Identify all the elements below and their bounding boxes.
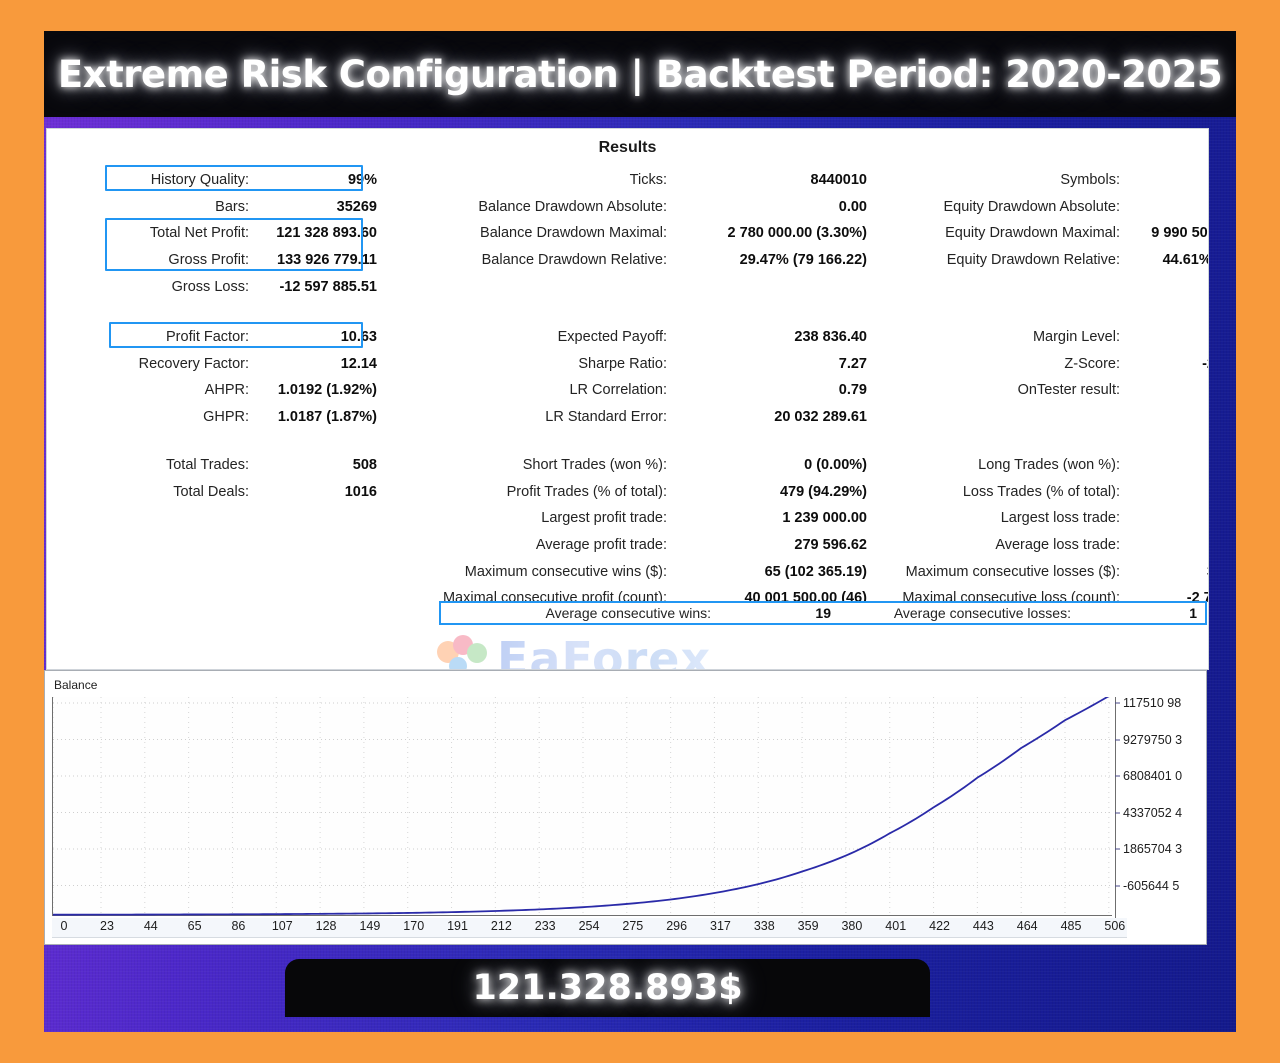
- x-axis-tick-label: 65: [188, 919, 202, 933]
- stat-label: Bars:: [79, 199, 249, 215]
- stat-value: 29.47% (79 166.22): [667, 252, 867, 268]
- x-axis-tick-label: 380: [841, 919, 862, 933]
- x-axis-tick-label: 359: [798, 919, 819, 933]
- stat-label: Gross Loss:: [79, 279, 249, 295]
- stat-value: 29 (5.71%): [1120, 484, 1209, 500]
- stat-label: Total Trades:: [79, 457, 249, 473]
- stats-block-trades: Total Trades:508 Short Trades (won %):0 …: [47, 452, 1209, 612]
- x-axis-tick-label: 296: [666, 919, 687, 933]
- stat-value: -12 597 885.51: [249, 279, 377, 295]
- x-axis-tick-label: 86: [231, 919, 245, 933]
- stat-value: 84.46%: [1120, 329, 1209, 345]
- stat-label: Sharpe Ratio:: [397, 356, 667, 372]
- x-axis-tick-label: 254: [579, 919, 600, 933]
- stat-label: Recovery Factor:: [79, 356, 249, 372]
- stat-value: 0: [1120, 382, 1209, 398]
- table-row: Total Trades:508 Short Trades (won %):0 …: [47, 452, 1209, 479]
- stat-label: Profit Trades (% of total):: [397, 484, 667, 500]
- stat-label: Expected Payoff:: [397, 329, 667, 345]
- x-axis-tick-label: 149: [359, 919, 380, 933]
- watermark-logo-icon: [437, 635, 489, 670]
- stat-value: 1 239 000.00: [667, 510, 867, 526]
- stat-label: Ticks:: [397, 172, 667, 188]
- stat-label: Z-Score:: [885, 356, 1120, 372]
- balance-chart-card: Balance 117510 989279750 36808401 043370…: [44, 670, 1207, 945]
- stat-value: 8440010: [667, 172, 867, 188]
- x-axis-tick-label: 191: [447, 919, 468, 933]
- stat-label: Long Trades (won %):: [885, 457, 1120, 473]
- average-consecutive-row: Average consecutive wins: 19 Average con…: [439, 601, 1207, 625]
- x-axis-tick-label: 401: [885, 919, 906, 933]
- stat-label: Margin Level:: [885, 329, 1120, 345]
- table-row: GHPR:1.0187 (1.87%) LR Standard Error:20…: [47, 404, 1209, 431]
- stat-label: Equity Drawdown Maximal:: [885, 225, 1120, 241]
- stat-label: Average consecutive losses:: [841, 605, 1071, 621]
- stat-label: Maximum consecutive wins ($):: [397, 564, 667, 580]
- stat-value: 0 (0.00%): [667, 457, 867, 473]
- stat-label: Balance Drawdown Maximal:: [397, 225, 667, 241]
- stat-label: Maximum consecutive losses ($):: [885, 564, 1120, 580]
- stat-label: LR Correlation:: [397, 382, 667, 398]
- stat-value: 1016: [249, 484, 377, 500]
- stat-label: Equity Drawdown Relative:: [885, 252, 1120, 268]
- stat-label: Total Net Profit:: [79, 225, 249, 241]
- stat-label: Equity Drawdown Absolute:: [885, 199, 1120, 215]
- stat-label: Largest loss trade:: [885, 510, 1120, 526]
- stat-value: -2.57 (98.98%): [1120, 356, 1209, 372]
- stat-label: Gross Profit:: [79, 252, 249, 268]
- table-row: AHPR:1.0192 (1.92%) LR Correlation:0.79 …: [47, 377, 1209, 404]
- stat-label: Largest profit trade:: [397, 510, 667, 526]
- stat-label: Short Trades (won %):: [397, 457, 667, 473]
- stat-value: 1.0192 (1.92%): [249, 382, 377, 398]
- table-row: History Quality:99% Ticks:8440010 Symbol…: [47, 167, 1209, 194]
- title-bar: Extreme Risk Configuration | Backtest Pe…: [44, 31, 1236, 117]
- stat-label: Balance Drawdown Relative:: [397, 252, 667, 268]
- stat-value: 12.14: [249, 356, 377, 372]
- stat-value: 9 990 500.00 (11.77%): [1120, 225, 1209, 241]
- x-axis-tick-label: 212: [491, 919, 512, 933]
- backtest-report-card: Results EaForex History Quality:99% Tick…: [46, 128, 1209, 670]
- page-title: Extreme Risk Configuration | Backtest Pe…: [58, 53, 1222, 96]
- x-axis-tick-label: 170: [403, 919, 424, 933]
- stat-value: 279 596.62: [667, 537, 867, 553]
- stat-value: 65 (102 365.19): [667, 564, 867, 580]
- stat-label: Profit Factor:: [79, 329, 249, 345]
- table-row: Gross Loss:-12 597 885.51: [47, 273, 1209, 300]
- x-axis-tick-label: 464: [1017, 919, 1038, 933]
- x-axis-tick-label: 128: [316, 919, 337, 933]
- chart-y-axis: 117510 989279750 36808401 04337052 41865…: [1115, 697, 1207, 919]
- x-axis-tick-label: 233: [535, 919, 556, 933]
- x-axis-tick-label: 443: [973, 919, 994, 933]
- stat-value: 35269: [249, 199, 377, 215]
- stat-value: 133 926 779.11: [249, 252, 377, 268]
- stat-label: Symbols:: [885, 172, 1120, 188]
- stat-label: History Quality:: [79, 172, 249, 188]
- x-axis-tick-label: 485: [1061, 919, 1082, 933]
- x-axis-tick-label: 338: [754, 919, 775, 933]
- chart-title: Balance: [54, 678, 97, 692]
- stat-value: 1.0187 (1.87%): [249, 409, 377, 425]
- stat-value: 1: [1120, 172, 1209, 188]
- stat-value: 121 328 893.60: [249, 225, 377, 241]
- stat-value: 20 032 289.61: [667, 409, 867, 425]
- stat-value: 0.00: [667, 199, 867, 215]
- x-axis-tick-label: 506: [1104, 919, 1125, 933]
- stat-value: 99%: [249, 172, 377, 188]
- x-axis-tick-label: 0: [61, 919, 68, 933]
- y-axis-tick-label: 9279750 3: [1123, 733, 1182, 747]
- x-axis-tick-label: 23: [100, 919, 114, 933]
- x-axis-tick-label: 275: [622, 919, 643, 933]
- screenshot-panel: Extreme Risk Configuration | Backtest Pe…: [44, 31, 1236, 1032]
- x-axis-tick-label: 107: [272, 919, 293, 933]
- stat-value: 508: [249, 457, 377, 473]
- orange-frame: Extreme Risk Configuration | Backtest Pe…: [0, 0, 1280, 1063]
- stat-label: Total Deals:: [79, 484, 249, 500]
- stats-block-overview: History Quality:99% Ticks:8440010 Symbol…: [47, 167, 1209, 300]
- stat-value: 19: [711, 605, 831, 621]
- table-row: Maximum consecutive wins ($):65 (102 365…: [47, 558, 1209, 585]
- stat-label: Average loss trade:: [885, 537, 1120, 553]
- stat-label: Average profit trade:: [397, 537, 667, 553]
- stat-value: 3 (-79 166.22): [1120, 564, 1209, 580]
- stat-label: Loss Trades (% of total):: [885, 484, 1120, 500]
- total-profit-banner: 121.328.893$: [285, 959, 930, 1017]
- results-heading: Results: [47, 129, 1208, 157]
- x-axis-tick-label: 422: [929, 919, 950, 933]
- chart-plot-area: [52, 697, 1112, 916]
- stat-value: 1: [1071, 605, 1197, 621]
- total-profit-value: 121.328.893$: [472, 968, 742, 1008]
- watermark-text: EaForex: [497, 632, 711, 670]
- stat-label: Average consecutive wins:: [441, 605, 711, 621]
- stat-value: 44.61% (123 978.42): [1120, 252, 1209, 268]
- stat-value: 272.44: [1120, 199, 1209, 215]
- table-row: Largest profit trade:1 239 000.00 Larges…: [47, 505, 1209, 532]
- table-row: Profit Factor:10.63 Expected Payoff:238 …: [47, 324, 1209, 351]
- chart-gridlines: [53, 697, 1113, 916]
- stats-block-ratios: Profit Factor:10.63 Expected Payoff:238 …: [47, 324, 1209, 430]
- stat-label: GHPR:: [79, 409, 249, 425]
- stat-value: 508 (94.29%): [1120, 457, 1209, 473]
- y-axis-tick-label: 117510 98: [1123, 696, 1181, 710]
- chart-x-axis: 0234465861071281491701912122332542752963…: [52, 918, 1127, 938]
- table-row: Recovery Factor:12.14 Sharpe Ratio:7.27 …: [47, 351, 1209, 378]
- table-row: Bars:35269 Balance Drawdown Absolute:0.0…: [47, 194, 1209, 221]
- stat-label: OnTester result:: [885, 382, 1120, 398]
- stat-value: -2 780 000.00: [1120, 510, 1209, 526]
- stat-label: Balance Drawdown Absolute:: [397, 199, 667, 215]
- table-row: Total Deals:1016 Profit Trades (% of tot…: [47, 479, 1209, 506]
- y-axis-tick-label: -605644 5: [1123, 879, 1179, 893]
- stat-value: -434 409.85: [1120, 537, 1209, 553]
- stat-value: 10.63: [249, 329, 377, 345]
- y-axis-tick-label: 4337052 4: [1123, 806, 1182, 820]
- stat-value: 2 780 000.00 (3.30%): [667, 225, 867, 241]
- balance-line-chart: [53, 697, 1113, 916]
- stat-label: LR Standard Error:: [397, 409, 667, 425]
- stat-value: 0.79: [667, 382, 867, 398]
- x-axis-tick-label: 44: [144, 919, 158, 933]
- eaforex-watermark: EaForex: [437, 624, 867, 670]
- y-axis-tick-label: 1865704 3: [1123, 842, 1182, 856]
- stat-value: 479 (94.29%): [667, 484, 867, 500]
- stat-value: 7.27: [667, 356, 867, 372]
- stat-label: AHPR:: [79, 382, 249, 398]
- stat-value: 238 836.40: [667, 329, 867, 345]
- x-axis-tick-label: 317: [710, 919, 731, 933]
- y-axis-tick-label: 6808401 0: [1123, 769, 1182, 783]
- table-row: Total Net Profit:121 328 893.60 Balance …: [47, 220, 1209, 247]
- table-row: Average profit trade:279 596.62 Average …: [47, 532, 1209, 559]
- table-row: Gross Profit:133 926 779.11 Balance Draw…: [47, 247, 1209, 274]
